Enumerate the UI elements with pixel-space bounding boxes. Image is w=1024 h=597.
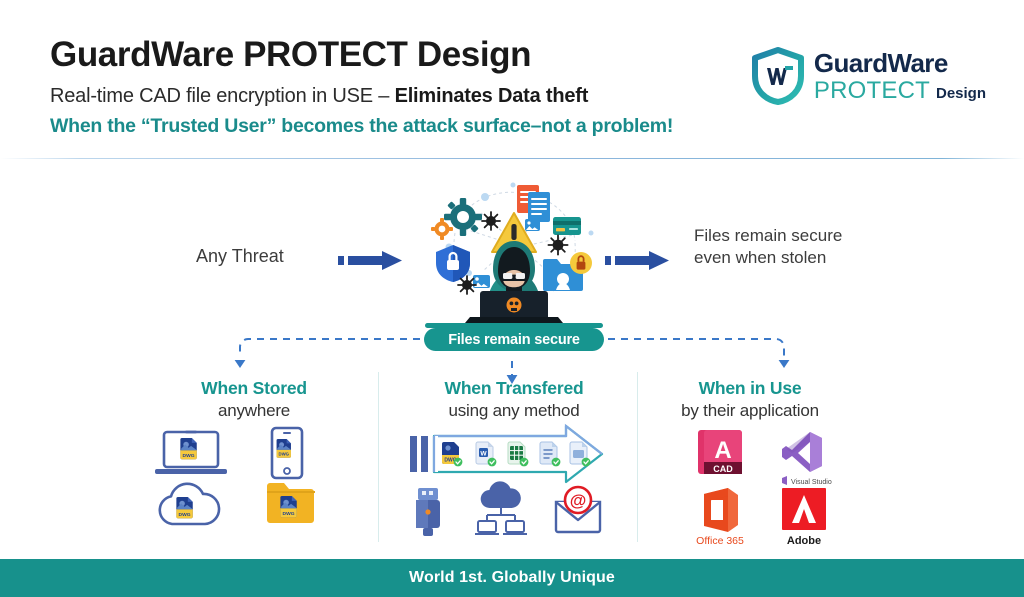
footer-bar: World 1st. Globally Unique xyxy=(0,559,1024,597)
column-divider-1 xyxy=(378,372,379,542)
columns-section: When Stored anywhere DWG xyxy=(0,378,1024,553)
flow-arrow-left xyxy=(338,249,404,271)
svg-text:Office 365: Office 365 xyxy=(696,535,744,547)
flow-arrow-right xyxy=(605,249,671,271)
any-threat-label: Any Threat xyxy=(196,246,284,267)
logo-product-line: PROTECT Design xyxy=(814,79,986,103)
status-badge: Files remain secure xyxy=(424,328,604,351)
svg-text:@: @ xyxy=(570,491,587,510)
column-1-icons: DWG xyxy=(136,426,372,536)
subtitle-emphasis: Eliminates Data theft xyxy=(395,85,589,107)
logo-brand-text: GuardWare xyxy=(814,50,986,76)
column-2-icons: DWG W xyxy=(396,426,632,538)
page-tagline: When the “Trusted User” becomes the atta… xyxy=(50,115,673,138)
svg-text:W: W xyxy=(480,450,487,457)
hacker-illustration xyxy=(425,173,603,328)
logo-variant-text: Design xyxy=(936,86,986,101)
autocad-icon: A CAD xyxy=(698,430,742,474)
brand-logo: GuardWare PROTECT Design xyxy=(752,48,986,104)
header-divider xyxy=(0,158,1024,159)
page-title: GuardWare PROTECT Design xyxy=(50,36,673,75)
logo-wordmark: GuardWare PROTECT Design xyxy=(814,50,986,103)
column-1-subheading: anywhere xyxy=(136,401,372,421)
shield-w-icon xyxy=(752,48,804,104)
page-subtitle: Real-time CAD file encryption in USE – E… xyxy=(50,85,673,108)
footer-text: World 1st. Globally Unique xyxy=(409,569,615,587)
column-2-subheading: using any method xyxy=(396,401,632,421)
column-when-stored: When Stored anywhere DWG xyxy=(136,378,372,421)
adobe-icon: Adobe xyxy=(782,488,826,547)
svg-text:Adobe: Adobe xyxy=(787,535,821,547)
title-block: GuardWare PROTECT Design Real-time CAD f… xyxy=(50,36,673,138)
svg-text:CAD: CAD xyxy=(713,464,733,474)
column-2-heading: When Transfered xyxy=(396,378,632,399)
column-when-transfered: When Transfered using any method xyxy=(396,378,632,421)
office365-icon: Office 365 xyxy=(696,488,744,547)
slide-root: GuardWare PROTECT Design Real-time CAD f… xyxy=(0,0,1024,597)
svg-text:Visual Studio: Visual Studio xyxy=(791,479,832,486)
svg-text:A: A xyxy=(714,437,731,464)
subtitle-plain: Real-time CAD file encryption in USE – xyxy=(50,85,395,107)
visual-studio-icon: Visual Studio xyxy=(782,432,832,486)
logo-product-text: PROTECT xyxy=(814,79,930,103)
column-when-in-use: When in Use by their application A CAD xyxy=(632,378,868,421)
column-3-icons: A CAD Visual Studio xyxy=(632,426,868,538)
column-3-subheading: by their application xyxy=(632,401,868,421)
slide-header: GuardWare PROTECT Design Real-time CAD f… xyxy=(0,0,1024,160)
column-3-heading: When in Use xyxy=(632,378,868,399)
column-1-heading: When Stored xyxy=(136,378,372,399)
files-remain-secure-label: Files remain secure even when stolen xyxy=(694,225,854,270)
